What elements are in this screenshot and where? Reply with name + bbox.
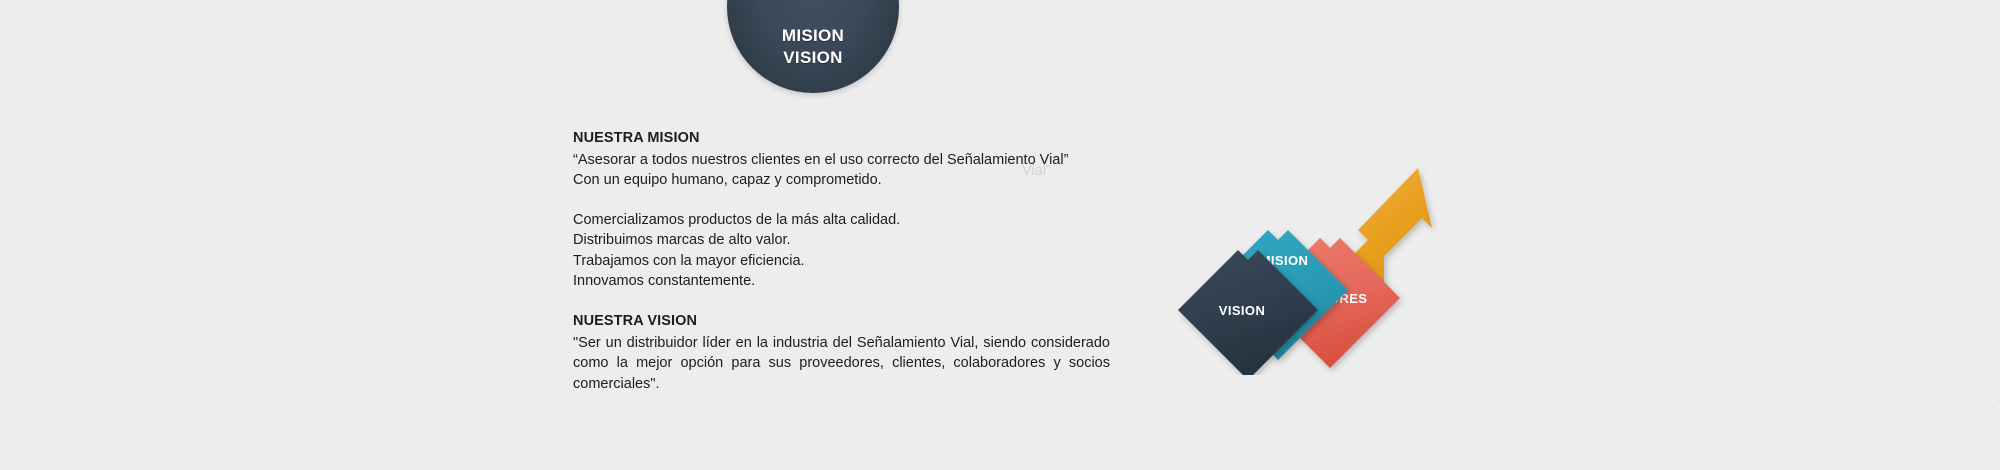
spacer-two — [573, 292, 1110, 311]
mission-bullet-2: Trabajamos con la mayor eficiencia. — [573, 251, 1110, 272]
mission-subline: Con un equipo humano, capaz y comprometi… — [573, 170, 1110, 191]
content-text-block: NUESTRA MISION “Asesorar a todos nuestro… — [573, 128, 1110, 415]
mission-bullet-0: Comercializamos productos de la más alta… — [573, 210, 1110, 231]
spacer-one — [573, 191, 1110, 210]
mission-bullet-3: Innovamos constantemente. — [573, 271, 1110, 292]
mision-vision-banner: MISION VISION — [727, 23, 899, 93]
vision-paragraph: "Ser un distribuidor líder en la industr… — [573, 333, 1110, 415]
mission-heading: NUESTRA MISION — [573, 128, 1110, 149]
mission-quote: “Asesorar a todos nuestros clientes en e… — [573, 150, 1110, 171]
banner-line-vision: VISION — [727, 47, 899, 69]
vision-mision-valores-arrow-graphic: VALORES MISION VISION — [1172, 150, 1462, 375]
banner-line-mision: MISION — [727, 25, 899, 47]
banner-labels: MISION VISION — [727, 25, 899, 69]
chevron-label-vision: VISION — [1219, 303, 1265, 318]
vision-heading: NUESTRA VISION — [573, 311, 1110, 332]
mission-bullet-1: Distribuimos marcas de alto valor. — [573, 230, 1110, 251]
